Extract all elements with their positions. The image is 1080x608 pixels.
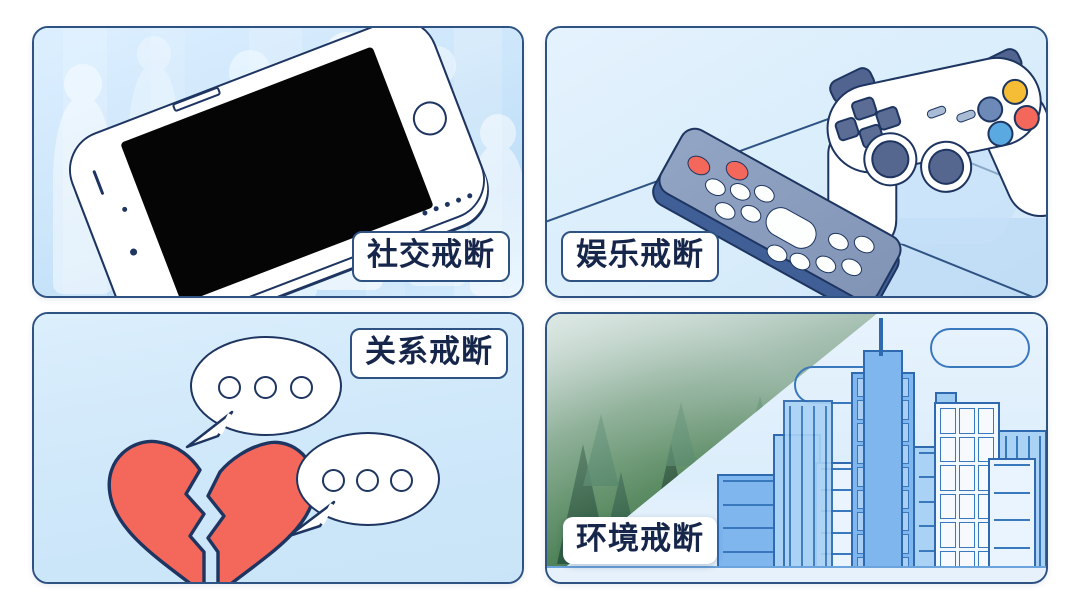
building <box>988 458 1036 582</box>
label-entertainment[interactable]: 娱乐戒断 <box>561 231 719 282</box>
controller-button-yellow <box>1000 76 1031 107</box>
cloud-icon <box>930 328 1030 368</box>
remote-button <box>712 199 739 224</box>
controller-start-button <box>955 108 977 123</box>
remote-power-button <box>684 152 714 179</box>
remote-source-button <box>722 157 752 184</box>
remote-button <box>851 232 878 257</box>
panel-environment[interactable]: 环境戒断 <box>545 312 1048 584</box>
remote-button <box>838 255 865 280</box>
building-tower-cap <box>863 350 903 582</box>
phone-camera-icon <box>129 247 138 256</box>
remote-button <box>751 181 778 206</box>
phone-sensor-icon <box>121 206 127 212</box>
label-environment[interactable]: 环境戒断 <box>563 517 717 564</box>
panel-social[interactable]: 社交戒断 <box>32 26 524 298</box>
illustration-board: 社交戒断 <box>0 0 1080 608</box>
controller-select-button <box>926 104 948 119</box>
remote-button <box>702 175 729 200</box>
remote-button <box>727 179 754 204</box>
label-relationship[interactable]: 关系戒断 <box>350 328 508 379</box>
panel-entertainment[interactable]: 娱乐戒断 <box>545 26 1048 298</box>
phone-earpiece-icon <box>92 170 104 195</box>
building <box>783 400 833 582</box>
city-ground <box>547 566 1046 582</box>
phone-home-button <box>408 96 452 140</box>
antenna-icon <box>879 318 883 356</box>
remote-button <box>825 229 852 254</box>
remote-button <box>737 201 764 226</box>
remote-button <box>812 252 839 277</box>
panel-relationship[interactable]: 关系戒断 <box>32 312 524 584</box>
label-social[interactable]: 社交戒断 <box>352 231 510 282</box>
